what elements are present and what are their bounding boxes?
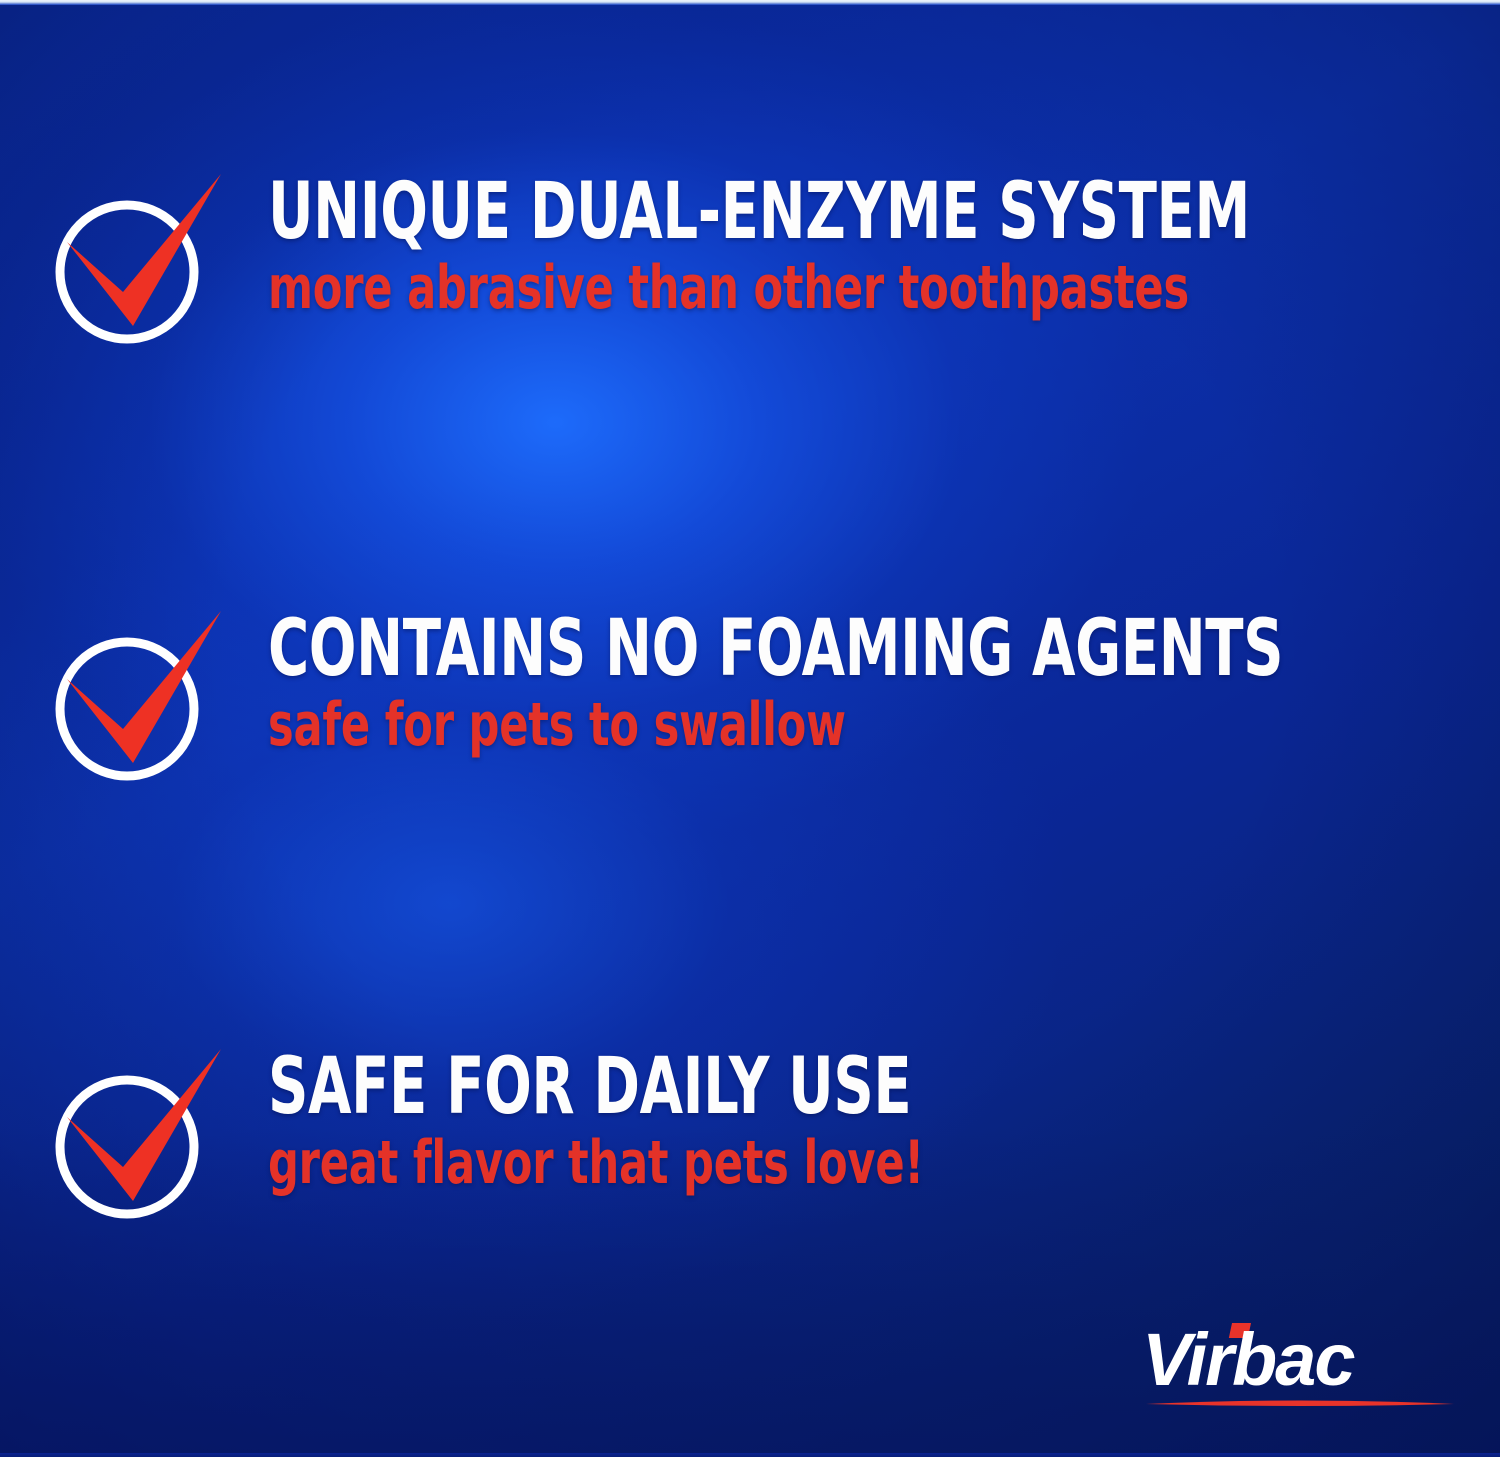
feature-item-2: CONTAINS NO FOAMING AGENTS safe for pets… <box>0 612 1500 802</box>
feature-text-3: SAFE FOR DAILY USE great flavor that pet… <box>268 1050 1448 1194</box>
bottom-edge-shadow <box>0 1453 1500 1457</box>
check-circle-icon <box>55 1055 240 1240</box>
check-circle-icon <box>55 180 240 365</box>
feature-text-1: UNIQUE DUAL-ENZYME SYSTEM more abrasive … <box>268 175 1448 319</box>
logo-wordmark: Virbac <box>1142 1318 1355 1401</box>
feature-item-3: SAFE FOR DAILY USE great flavor that pet… <box>0 1050 1500 1240</box>
check-circle-icon <box>55 617 240 802</box>
feature-subline: more abrasive than other toothpastes <box>268 258 1212 319</box>
logo-underline <box>1146 1401 1454 1407</box>
virbac-logo: Virbac <box>1140 1309 1460 1419</box>
promo-poster: UNIQUE DUAL-ENZYME SYSTEM more abrasive … <box>0 0 1500 1457</box>
feature-item-1: UNIQUE DUAL-ENZYME SYSTEM more abrasive … <box>0 175 1500 365</box>
top-edge-highlight <box>0 0 1500 5</box>
feature-headline: CONTAINS NO FOAMING AGENTS <box>268 612 1212 687</box>
feature-subline: safe for pets to swallow <box>268 695 1212 756</box>
feature-headline: UNIQUE DUAL-ENZYME SYSTEM <box>268 175 1212 250</box>
feature-list: UNIQUE DUAL-ENZYME SYSTEM more abrasive … <box>0 0 1500 1457</box>
feature-text-2: CONTAINS NO FOAMING AGENTS safe for pets… <box>268 612 1448 756</box>
feature-subline: great flavor that pets love! <box>268 1133 1212 1194</box>
feature-headline: SAFE FOR DAILY USE <box>268 1050 1212 1125</box>
